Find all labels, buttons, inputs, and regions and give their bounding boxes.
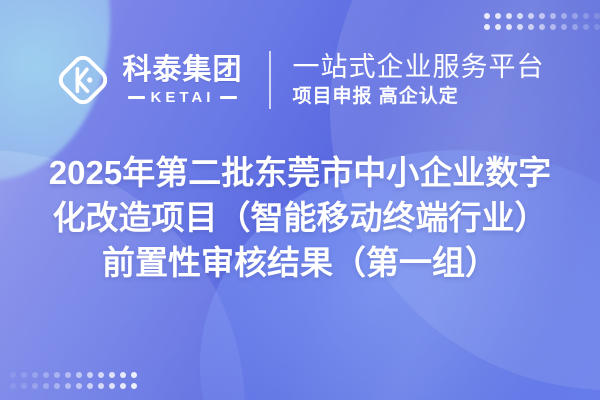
grid-dot xyxy=(484,24,490,30)
grid-dot xyxy=(539,24,545,30)
brand-rule-left-icon xyxy=(128,96,145,99)
grid-dot xyxy=(10,372,16,378)
tagline-block: 一站式企业服务平台 项目申报 高企认定 xyxy=(293,52,545,108)
page-title-line-3: 前置性审核结果（第一组） xyxy=(0,240,600,285)
grid-dot xyxy=(98,372,104,378)
brand-name-en-row: KETAI xyxy=(128,90,238,105)
grid-dot xyxy=(21,372,27,378)
brand-lockup: 科泰集团 KETAI xyxy=(55,52,242,108)
grid-dot xyxy=(561,13,567,19)
header-divider xyxy=(269,51,271,109)
grid-dot xyxy=(65,372,71,378)
grid-dot xyxy=(120,372,126,378)
promo-banner: 科泰集团 KETAI 一站式企业服务平台 项目申报 高企认定 2025年第二批东… xyxy=(0,0,600,400)
dot-row xyxy=(10,372,137,378)
grid-dot xyxy=(495,24,501,30)
grid-dot xyxy=(550,13,556,19)
brand-wordmark: 科泰集团 KETAI xyxy=(122,56,242,105)
tagline-main: 一站式企业服务平台 xyxy=(293,52,545,82)
dot-row xyxy=(10,383,137,389)
dot-grid-top-right xyxy=(484,13,600,30)
grid-dot xyxy=(594,24,600,30)
tagline-sub: 项目申报 高企认定 xyxy=(293,87,545,108)
page-title-line-2: 化改造项目（智能移动终端行业） xyxy=(0,195,600,240)
grid-dot xyxy=(506,24,512,30)
brand-rule-right-icon xyxy=(220,96,237,99)
brand-name-en: KETAI xyxy=(151,90,215,105)
grid-dot xyxy=(120,383,126,389)
grid-dot xyxy=(10,383,16,389)
grid-dot xyxy=(76,372,82,378)
grid-dot xyxy=(109,383,115,389)
dot-row xyxy=(484,13,600,19)
grid-dot xyxy=(594,13,600,19)
grid-dot xyxy=(43,383,49,389)
ketai-diamond-monogram-logo-icon xyxy=(55,52,111,108)
grid-dot xyxy=(109,372,115,378)
dot-grid-bottom-left xyxy=(10,372,137,389)
dot-row xyxy=(484,24,600,30)
grid-dot xyxy=(517,24,523,30)
grid-dot xyxy=(495,13,501,19)
grid-dot xyxy=(550,24,556,30)
grid-dot xyxy=(517,13,523,19)
grid-dot xyxy=(572,24,578,30)
grid-dot xyxy=(539,13,545,19)
grid-dot xyxy=(528,13,534,19)
grid-dot xyxy=(528,24,534,30)
grid-dot xyxy=(87,383,93,389)
grid-dot xyxy=(583,24,589,30)
grid-dot xyxy=(32,383,38,389)
grid-dot xyxy=(87,372,93,378)
page-title-line-1: 2025年第二批东莞市中小企业数字 xyxy=(0,150,600,195)
grid-dot xyxy=(131,383,137,389)
grid-dot xyxy=(484,13,490,19)
grid-dot xyxy=(98,383,104,389)
grid-dot xyxy=(32,372,38,378)
grid-dot xyxy=(561,24,567,30)
grid-dot xyxy=(43,372,49,378)
grid-dot xyxy=(76,383,82,389)
grid-dot xyxy=(54,372,60,378)
grid-dot xyxy=(583,13,589,19)
grid-dot xyxy=(54,383,60,389)
brand-name-cn: 科泰集团 xyxy=(122,56,242,85)
grid-dot xyxy=(131,372,137,378)
grid-dot xyxy=(506,13,512,19)
grid-dot xyxy=(21,383,27,389)
grid-dot xyxy=(65,383,71,389)
page-title: 2025年第二批东莞市中小企业数字 化改造项目（智能移动终端行业） 前置性审核结… xyxy=(0,150,600,285)
banner-header: 科泰集团 KETAI 一站式企业服务平台 项目申报 高企认定 xyxy=(0,44,600,116)
grid-dot xyxy=(572,13,578,19)
